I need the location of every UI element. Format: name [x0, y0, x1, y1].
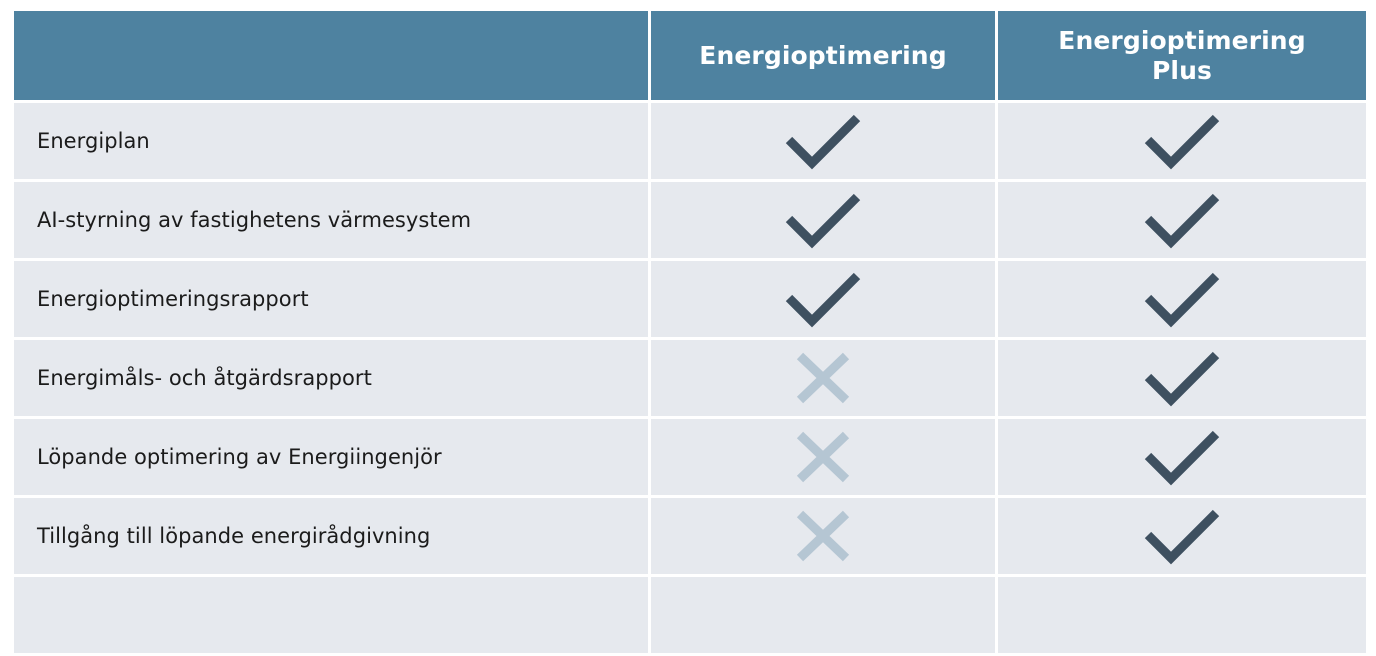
energioptimering-cell [651, 577, 995, 653]
check-icon [1140, 190, 1224, 250]
column-header-energioptimering: Energioptimering [651, 11, 995, 100]
table-body: EnergiplanAI-styrning av fastighetens vä… [14, 103, 1366, 653]
feature-label-cell: Energimåls- och åtgärdsrapport [14, 340, 648, 416]
check-icon [1140, 269, 1224, 329]
check-icon [1140, 348, 1224, 408]
table-row: AI-styrning av fastighetens värmesystem [14, 182, 1366, 258]
energioptimering-cell [651, 340, 995, 416]
column-header-feature [14, 11, 648, 100]
check-icon [1140, 111, 1224, 171]
cross-icon [792, 348, 854, 408]
energioptimering-cell [651, 261, 995, 337]
column-header-plus-line2: Plus [1152, 56, 1212, 85]
energioptimering-plus-cell [998, 103, 1366, 179]
feature-label-cell: Löpande optimering av Energiingenjör [14, 419, 648, 495]
feature-label-cell: Energiplan [14, 103, 648, 179]
column-header-energioptimering-plus: Energioptimering Plus [998, 11, 1366, 100]
energioptimering-plus-cell [998, 182, 1366, 258]
energioptimering-plus-cell [998, 261, 1366, 337]
check-icon [781, 111, 865, 171]
header-row: Energioptimering Energioptimering Plus [14, 11, 1366, 100]
table-row: Tillgång till löpande energirådgivning [14, 498, 1366, 574]
cross-icon [792, 427, 854, 487]
feature-label-cell: Tillgång till löpande energirådgivning [14, 498, 648, 574]
energioptimering-plus-cell [998, 419, 1366, 495]
feature-label-cell: AI-styrning av fastighetens värmesystem [14, 182, 648, 258]
energioptimering-cell [651, 419, 995, 495]
check-icon [781, 269, 865, 329]
feature-label-cell: Energioptimeringsrapport [14, 261, 648, 337]
cross-icon [792, 506, 854, 566]
table-row: Löpande optimering av Energiingenjör [14, 419, 1366, 495]
check-icon [781, 190, 865, 250]
table-row: Energimåls- och åtgärdsrapport [14, 340, 1366, 416]
energioptimering-plus-cell [998, 498, 1366, 574]
table-row [14, 577, 1366, 653]
feature-label-cell [14, 577, 648, 653]
check-icon [1140, 427, 1224, 487]
table-row: Energiplan [14, 103, 1366, 179]
energioptimering-cell [651, 182, 995, 258]
table-header: Energioptimering Energioptimering Plus [14, 11, 1366, 100]
check-icon [1140, 506, 1224, 566]
energioptimering-plus-cell [998, 577, 1366, 653]
comparison-table: Energioptimering Energioptimering Plus E… [11, 8, 1369, 656]
energioptimering-plus-cell [998, 340, 1366, 416]
energioptimering-cell [651, 103, 995, 179]
column-header-plus-line1: Energioptimering [1058, 26, 1305, 55]
feature-comparison-table: Energioptimering Energioptimering Plus E… [11, 8, 1363, 588]
energioptimering-cell [651, 498, 995, 574]
table-row: Energioptimeringsrapport [14, 261, 1366, 337]
